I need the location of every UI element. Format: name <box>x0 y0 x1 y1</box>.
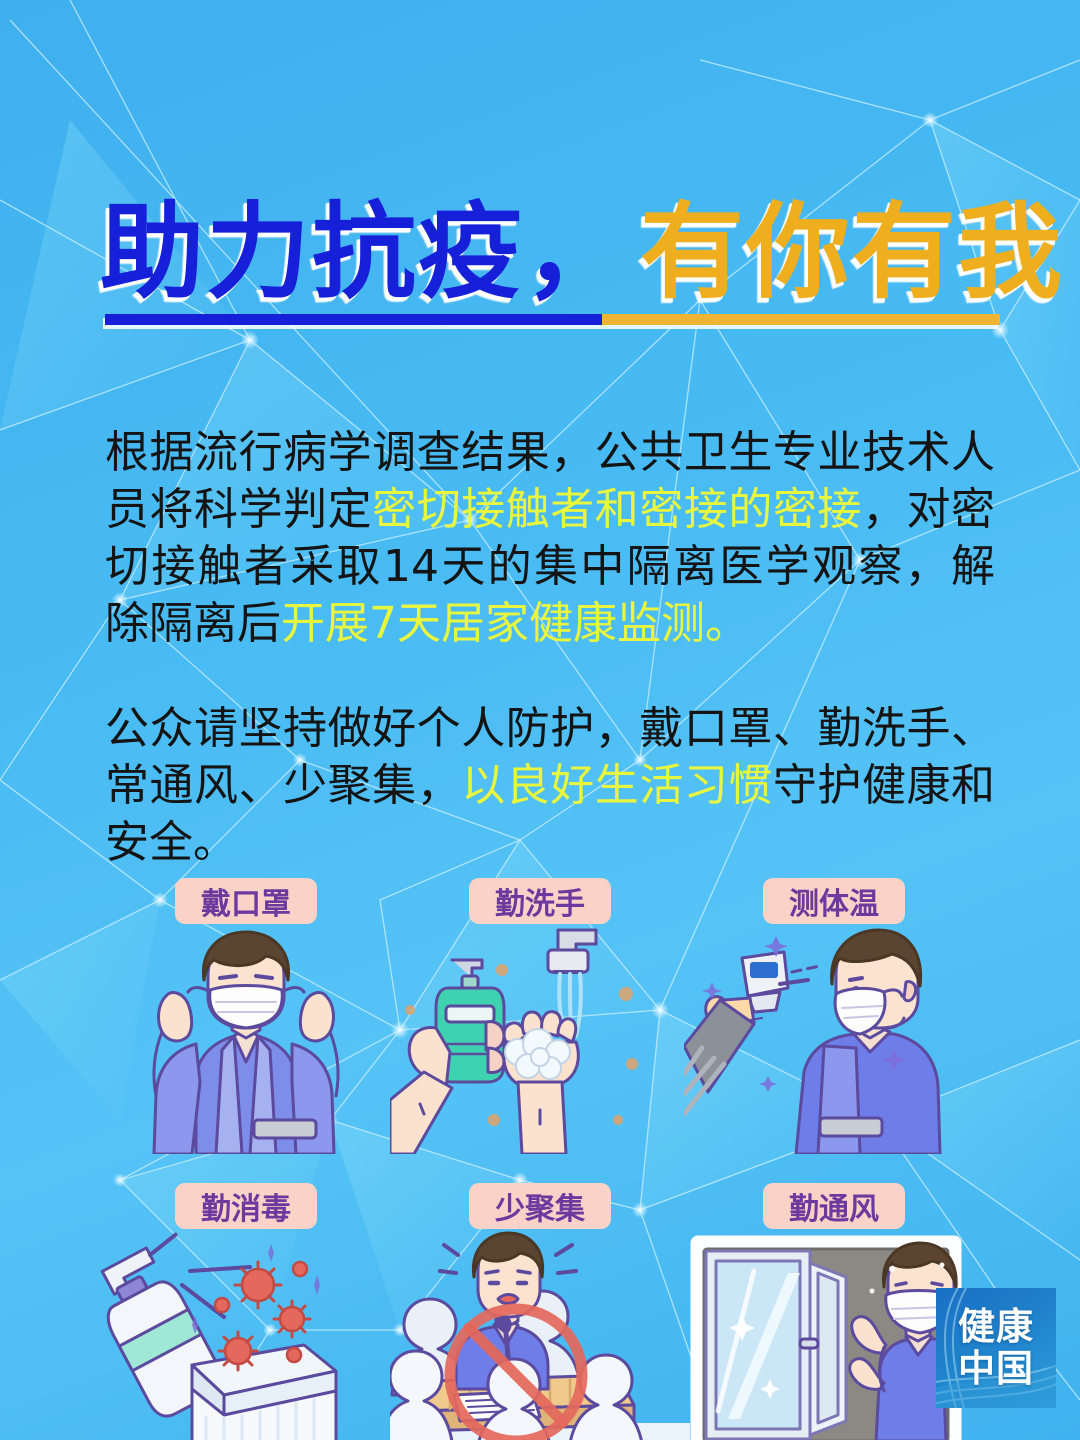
disinfect-icon <box>96 1229 396 1440</box>
measure-wear-mask[interactable]: 戴口罩 <box>96 866 396 1156</box>
logo-line-1: 健康 <box>958 1307 1034 1347</box>
measure-label-take-temperature: 测体温 <box>763 878 905 924</box>
paragraph-two: 公众请坚持做好个人防护，戴口罩、勤洗手、常通风、少聚集，以良好生活习惯守护健康和… <box>105 700 995 871</box>
health-china-logo: 健康 中国 <box>936 1288 1056 1408</box>
title-underline-gold <box>602 314 1000 325</box>
take-temperature-icon <box>684 924 984 1154</box>
title-underline-blue <box>105 314 602 325</box>
measure-label-avoid-gathering: 少聚集 <box>469 1183 611 1229</box>
measure-wash-hands[interactable]: 勤洗手 <box>390 866 690 1156</box>
paragraph-two-run-1: 以良好生活习惯 <box>461 760 773 811</box>
wash-hands-icon <box>390 924 690 1154</box>
measure-disinfect[interactable]: 勤消毒 <box>96 1171 396 1440</box>
poster-title-block: 助力抗疫，有你有我 <box>0 196 1080 346</box>
wear-mask-icon <box>96 924 396 1154</box>
measure-label-wash-hands: 勤洗手 <box>469 878 611 924</box>
measure-take-temperature[interactable]: 测体温 <box>684 866 984 1156</box>
title-accent-text: 有你有我 <box>640 191 1064 313</box>
measure-label-wear-mask: 戴口罩 <box>175 878 317 924</box>
logo-line-2: 中国 <box>958 1349 1034 1389</box>
poster-body-copy: 根据流行病学调查结果，公共卫生专业技术人员将科学判定密切接触者和密接的密接，对密… <box>105 424 995 871</box>
paragraph-one-run-3: 开展7天居家健康监测。 <box>281 598 749 649</box>
measure-label-disinfect: 勤消毒 <box>175 1183 317 1229</box>
measures-row-bottom: 勤消毒 <box>0 1171 1080 1440</box>
paragraph-one-run-1: 密切接触者和密接的密接 <box>372 484 862 535</box>
paragraph-one: 根据流行病学调查结果，公共卫生专业技术人员将科学判定密切接触者和密接的密接，对密… <box>105 424 995 652</box>
title-underline <box>105 314 1000 325</box>
poster-title: 助力抗疫，有你有我 <box>100 196 1020 314</box>
logo-text: 健康 中国 <box>936 1288 1056 1408</box>
title-main-text: 助力抗疫， <box>100 191 630 313</box>
measures-row-top: 戴口罩 <box>0 866 1080 1156</box>
prevention-measures-grid: 戴口罩 <box>0 866 1080 1440</box>
avoid-gathering-icon <box>390 1229 690 1440</box>
measure-label-ventilate: 勤通风 <box>763 1183 905 1229</box>
measure-avoid-gathering[interactable]: 少聚集 <box>390 1171 690 1440</box>
